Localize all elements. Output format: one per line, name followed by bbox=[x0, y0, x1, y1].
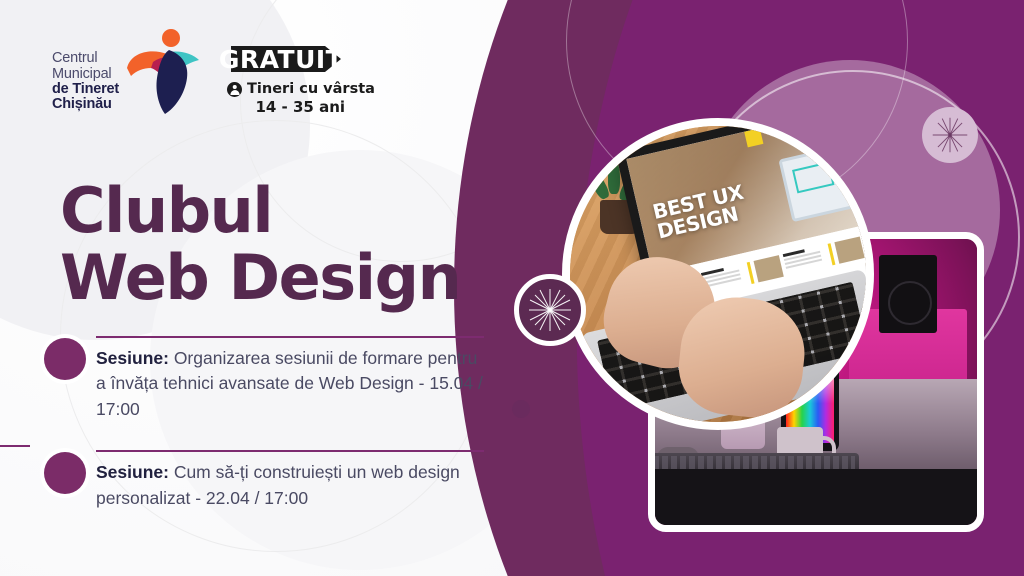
badge-age-range: 14 - 35 ani bbox=[227, 98, 345, 116]
nav-item[interactable] bbox=[832, 134, 850, 141]
badge-age-line: Tineri cu vârsta bbox=[227, 81, 375, 97]
card-accent-bar bbox=[828, 243, 836, 265]
session-divider bbox=[96, 450, 484, 452]
logo-figure-icon bbox=[125, 26, 201, 116]
gratuit-banner: GRATUIT bbox=[227, 42, 345, 76]
website-card[interactable] bbox=[828, 227, 874, 265]
laptop-photo-circle: BEST UX DESIGN bbox=[562, 118, 874, 430]
poster-canvas: BEST UX DESIGN bbox=[0, 0, 1024, 576]
accent-dot bbox=[512, 400, 530, 418]
logo-wordmark: Centrul Municipal de Tineret Chișinău bbox=[52, 29, 119, 112]
website-hero-heading: BEST UX DESIGN bbox=[651, 183, 749, 241]
list-item: Sesiune: Cum să-ți construiești un web d… bbox=[44, 444, 484, 511]
session-description: Sesiune: Cum să-ți construiești un web d… bbox=[96, 444, 484, 511]
card-accent-bar bbox=[746, 262, 754, 284]
session-divider bbox=[96, 336, 484, 338]
session-list: Sesiune: Organizarea sesiunii de formare… bbox=[44, 330, 484, 533]
title-line-2: Web Design bbox=[60, 241, 460, 314]
list-item: Sesiune: Organizarea sesiunii de formare… bbox=[44, 330, 484, 422]
desk-front-edge bbox=[655, 469, 977, 525]
header: Centrul Municipal de Tineret Chișinău GR… bbox=[52, 26, 375, 116]
website-hero-tablet bbox=[778, 142, 870, 222]
session-bullet bbox=[44, 338, 86, 380]
accent-dash bbox=[0, 445, 30, 447]
organization-logo[interactable]: Centrul Municipal de Tineret Chișinău bbox=[52, 26, 201, 116]
card-thumbnail bbox=[835, 236, 865, 263]
logo-line-4: Chișinău bbox=[52, 97, 119, 112]
session-label: Sesiune: bbox=[96, 462, 169, 482]
logo-line-2: Municipal bbox=[52, 67, 119, 82]
free-badge: GRATUIT Tineri cu vârsta 14 - 35 ani bbox=[227, 26, 375, 116]
logo-line-3: de Tineret bbox=[52, 82, 119, 97]
gratuit-label: GRATUIT bbox=[227, 42, 345, 76]
desk-speaker bbox=[879, 255, 937, 333]
person-icon bbox=[227, 82, 242, 97]
page-title: Clubul Web Design bbox=[60, 178, 460, 312]
logo-line-1: Centrul bbox=[52, 51, 119, 66]
website-card[interactable] bbox=[746, 245, 824, 283]
website-yellow-tab bbox=[744, 128, 763, 147]
starburst-icon bbox=[922, 107, 978, 163]
starburst-icon bbox=[514, 274, 586, 346]
card-thumbnail bbox=[753, 255, 783, 282]
session-label: Sesiune: bbox=[96, 348, 169, 368]
card-text-lines bbox=[782, 245, 824, 275]
session-bullet bbox=[44, 452, 86, 494]
nav-item[interactable] bbox=[802, 141, 820, 148]
badge-age-text: Tineri cu vârsta bbox=[247, 81, 375, 97]
session-description: Sesiune: Organizarea sesiunii de formare… bbox=[96, 330, 484, 422]
title-line-1: Clubul bbox=[60, 174, 272, 247]
website-nav bbox=[802, 127, 874, 148]
